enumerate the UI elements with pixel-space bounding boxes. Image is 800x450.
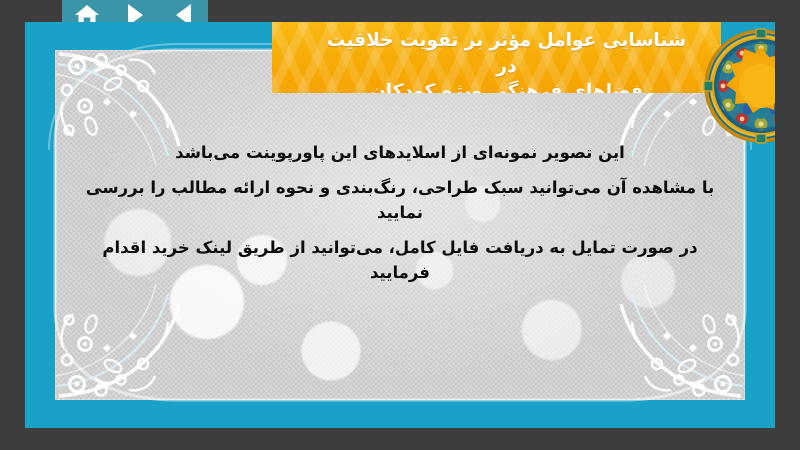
body-line-2: با مشاهده آن می‌توانید سبک طراحی، رنگ‌بن… bbox=[85, 175, 715, 226]
slide-body-text: این تصویر نمونه‌ای از اسلایدهای این پاور… bbox=[85, 140, 715, 295]
persian-mandala-medallion bbox=[703, 28, 775, 144]
page-title: شناسایی عوامل مؤثر بر تقویت خلاقیت در فض… bbox=[272, 22, 721, 93]
body-line-1: این تصویر نمونه‌ای از اسلایدهای این پاور… bbox=[85, 140, 715, 166]
slide-canvas: شناسایی عوامل مؤثر بر تقویت خلاقیت در فض… bbox=[25, 22, 775, 428]
body-line-3: در صورت تمایل به دریافت فایل کامل، می‌تو… bbox=[85, 235, 715, 286]
title-line-2: فضاهای فرهنگی ویژه کودکان bbox=[326, 79, 687, 93]
title-banner: شناسایی عوامل مؤثر بر تقویت خلاقیت در فض… bbox=[272, 22, 721, 93]
title-line-1: شناسایی عوامل مؤثر بر تقویت خلاقیت در bbox=[326, 28, 687, 79]
slide-viewer: شناسایی عوامل مؤثر بر تقویت خلاقیت در فض… bbox=[0, 0, 800, 450]
